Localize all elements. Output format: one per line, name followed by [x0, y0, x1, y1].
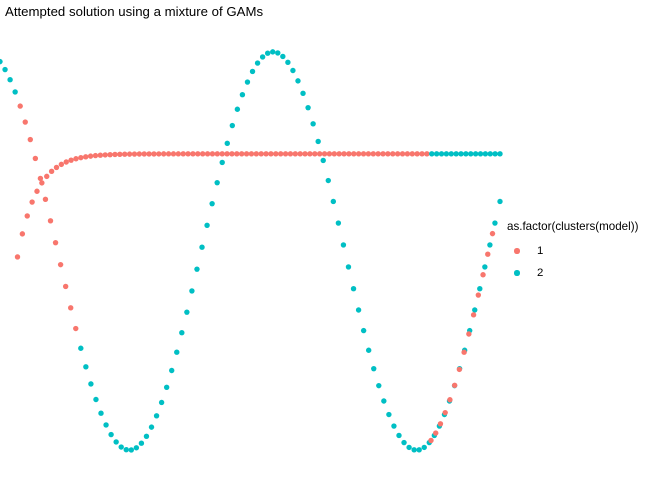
data-point	[428, 438, 433, 443]
data-point	[488, 151, 493, 156]
data-point	[240, 92, 245, 97]
data-point	[497, 151, 502, 156]
data-point	[49, 169, 54, 174]
data-point	[385, 151, 390, 156]
data-point	[205, 151, 210, 156]
legend-item-2[interactable]: 2	[506, 262, 672, 284]
data-point	[124, 447, 129, 452]
data-point	[154, 413, 159, 418]
data-point	[461, 350, 466, 355]
data-point	[249, 151, 254, 156]
data-point	[380, 151, 385, 156]
data-point	[54, 165, 59, 170]
data-point	[490, 231, 495, 236]
data-point	[322, 151, 327, 156]
legend-title: as.factor(clusters(model))	[507, 220, 672, 234]
data-point	[473, 151, 478, 156]
data-point	[93, 397, 98, 402]
data-point	[161, 151, 166, 156]
data-point	[113, 439, 118, 444]
data-point	[396, 433, 401, 438]
data-point	[204, 223, 209, 228]
data-point	[283, 151, 288, 156]
data-point	[200, 151, 205, 156]
data-point	[278, 151, 283, 156]
data-point	[48, 218, 53, 223]
data-point	[149, 424, 154, 429]
data-point	[371, 151, 376, 156]
data-point	[78, 346, 83, 351]
data-point	[64, 159, 69, 164]
data-point	[487, 242, 492, 247]
data-point	[386, 412, 391, 417]
data-point	[245, 79, 250, 84]
data-point	[63, 284, 68, 289]
data-point	[312, 151, 317, 156]
data-point	[176, 151, 181, 156]
data-point	[18, 103, 23, 108]
data-point	[447, 397, 452, 402]
data-point	[466, 331, 471, 336]
data-point	[139, 441, 144, 446]
data-point	[471, 312, 476, 317]
data-point	[229, 151, 234, 156]
data-point	[419, 151, 424, 156]
data-point	[468, 151, 473, 156]
data-point	[137, 151, 142, 156]
data-point	[376, 383, 381, 388]
data-point	[78, 155, 83, 160]
data-point	[258, 151, 263, 156]
data-point	[239, 151, 244, 156]
data-point	[88, 381, 93, 386]
data-point	[285, 60, 290, 65]
data-point	[395, 151, 400, 156]
data-point	[33, 156, 38, 161]
data-point	[341, 242, 346, 247]
scatter-points-layer	[0, 22, 500, 480]
data-point	[482, 264, 487, 269]
data-point	[58, 262, 63, 267]
data-point	[20, 231, 25, 236]
data-point	[190, 151, 195, 156]
data-point	[164, 385, 169, 390]
data-point	[458, 151, 463, 156]
data-point	[103, 422, 108, 427]
data-point	[492, 151, 497, 156]
data-point	[346, 264, 351, 269]
data-point	[326, 178, 331, 183]
legend: as.factor(clusters(model)) 1 2	[506, 220, 672, 284]
data-point	[438, 421, 443, 426]
data-point	[29, 199, 34, 204]
legend-item-1[interactable]: 1	[506, 240, 672, 262]
data-point	[263, 151, 268, 156]
data-point	[439, 151, 444, 156]
data-point	[215, 151, 220, 156]
data-point	[166, 151, 171, 156]
data-point	[315, 139, 320, 144]
data-point	[270, 49, 275, 54]
data-point	[73, 156, 78, 161]
data-point	[2, 67, 7, 72]
data-point	[53, 240, 58, 245]
data-point	[44, 174, 49, 179]
data-point	[416, 447, 421, 452]
data-point	[366, 151, 371, 156]
data-point	[478, 151, 483, 156]
data-point	[310, 121, 315, 126]
data-point	[103, 152, 108, 157]
data-point	[230, 123, 235, 128]
data-point	[83, 154, 88, 159]
data-point	[254, 151, 259, 156]
data-point	[28, 137, 33, 142]
data-point	[371, 366, 376, 371]
data-point	[195, 151, 200, 156]
data-point	[361, 328, 366, 333]
data-point	[449, 151, 454, 156]
data-point	[184, 309, 189, 314]
data-point	[424, 151, 429, 156]
data-point	[189, 288, 194, 293]
data-point	[356, 151, 361, 156]
data-point	[214, 180, 219, 185]
data-point	[220, 151, 225, 156]
data-point	[381, 398, 386, 403]
data-point	[156, 151, 161, 156]
data-point	[174, 350, 179, 355]
data-point	[83, 364, 88, 369]
data-point	[485, 252, 490, 257]
data-point	[405, 151, 410, 156]
page-title: Attempted solution using a mixture of GA…	[5, 4, 263, 20]
data-point	[68, 157, 73, 162]
data-point	[400, 151, 405, 156]
data-point	[414, 151, 419, 156]
data-point	[224, 151, 229, 156]
data-point	[134, 445, 139, 450]
data-point	[434, 151, 439, 156]
data-point	[132, 151, 137, 156]
data-point	[117, 152, 122, 157]
data-point	[331, 199, 336, 204]
data-point	[142, 151, 147, 156]
data-point	[122, 152, 127, 157]
data-point	[244, 151, 249, 156]
data-point	[98, 411, 103, 416]
legend-item-label: 1	[537, 244, 543, 258]
plot-panel	[0, 22, 500, 480]
data-point	[442, 410, 447, 415]
data-point	[25, 213, 30, 218]
data-point	[472, 307, 477, 312]
data-point	[433, 430, 438, 435]
data-point	[341, 151, 346, 156]
data-point	[98, 153, 103, 158]
data-point	[88, 153, 93, 158]
point-marker-icon	[506, 262, 528, 284]
data-point	[265, 51, 270, 56]
data-point	[146, 151, 151, 156]
data-point	[108, 432, 113, 437]
data-point	[492, 220, 497, 225]
data-point	[293, 151, 298, 156]
data-point	[268, 151, 273, 156]
data-point	[38, 176, 43, 181]
data-point	[43, 197, 48, 202]
data-point	[305, 105, 310, 110]
data-point	[401, 440, 406, 445]
data-point	[356, 307, 361, 312]
data-point	[429, 151, 434, 156]
legend-item-label: 2	[537, 266, 543, 280]
data-point	[410, 151, 415, 156]
data-point	[179, 330, 184, 335]
data-point	[129, 447, 134, 452]
data-point	[366, 348, 371, 353]
data-point	[346, 151, 351, 156]
data-point	[255, 60, 260, 65]
data-point	[457, 367, 462, 372]
data-point	[391, 423, 396, 428]
data-point	[452, 383, 457, 388]
data-point	[453, 151, 458, 156]
data-point	[375, 151, 380, 156]
data-point	[144, 434, 149, 439]
data-point	[107, 152, 112, 157]
data-point	[210, 151, 215, 156]
data-point	[290, 68, 295, 73]
data-point	[317, 151, 322, 156]
data-point	[93, 153, 98, 158]
data-point	[463, 151, 468, 156]
data-point	[361, 151, 366, 156]
data-point	[34, 189, 39, 194]
data-point	[295, 78, 300, 83]
data-point	[497, 199, 502, 204]
data-point	[327, 151, 332, 156]
data-point	[260, 54, 265, 59]
data-point	[273, 151, 278, 156]
data-point	[0, 59, 3, 64]
point-marker-icon	[506, 240, 528, 262]
data-point	[112, 152, 117, 157]
data-point	[225, 141, 230, 146]
data-point	[280, 54, 285, 59]
data-point	[171, 151, 176, 156]
data-point	[444, 151, 449, 156]
data-point	[209, 201, 214, 206]
data-point	[127, 151, 132, 156]
data-point	[300, 91, 305, 96]
data-point	[235, 107, 240, 112]
data-point	[332, 151, 337, 156]
data-point	[68, 305, 73, 310]
data-point	[181, 151, 186, 156]
data-point	[480, 272, 485, 277]
data-point	[234, 151, 239, 156]
data-point	[297, 151, 302, 156]
data-point	[185, 151, 190, 156]
data-point	[307, 151, 312, 156]
data-point	[302, 151, 307, 156]
data-point	[23, 119, 28, 124]
data-point	[15, 254, 20, 259]
data-point	[336, 220, 341, 225]
data-point	[7, 77, 12, 82]
data-point	[151, 151, 156, 156]
data-point	[199, 245, 204, 250]
data-point	[59, 162, 64, 167]
data-point	[422, 445, 427, 450]
data-point	[220, 160, 225, 165]
data-point	[351, 151, 356, 156]
data-point	[406, 445, 411, 450]
data-point	[159, 400, 164, 405]
data-point	[275, 50, 280, 55]
data-point	[288, 151, 293, 156]
data-point	[483, 151, 488, 156]
data-point	[351, 286, 356, 291]
data-point	[411, 447, 416, 452]
data-point	[476, 292, 481, 297]
data-point	[119, 444, 124, 449]
data-point	[390, 151, 395, 156]
data-point	[194, 266, 199, 271]
chart-root: Attempted solution using a mixture of GA…	[0, 0, 672, 480]
data-point	[321, 158, 326, 163]
data-point	[477, 286, 482, 291]
data-point	[250, 69, 255, 74]
data-point	[169, 368, 174, 373]
data-point	[336, 151, 341, 156]
data-point	[12, 89, 17, 94]
data-point	[73, 326, 78, 331]
